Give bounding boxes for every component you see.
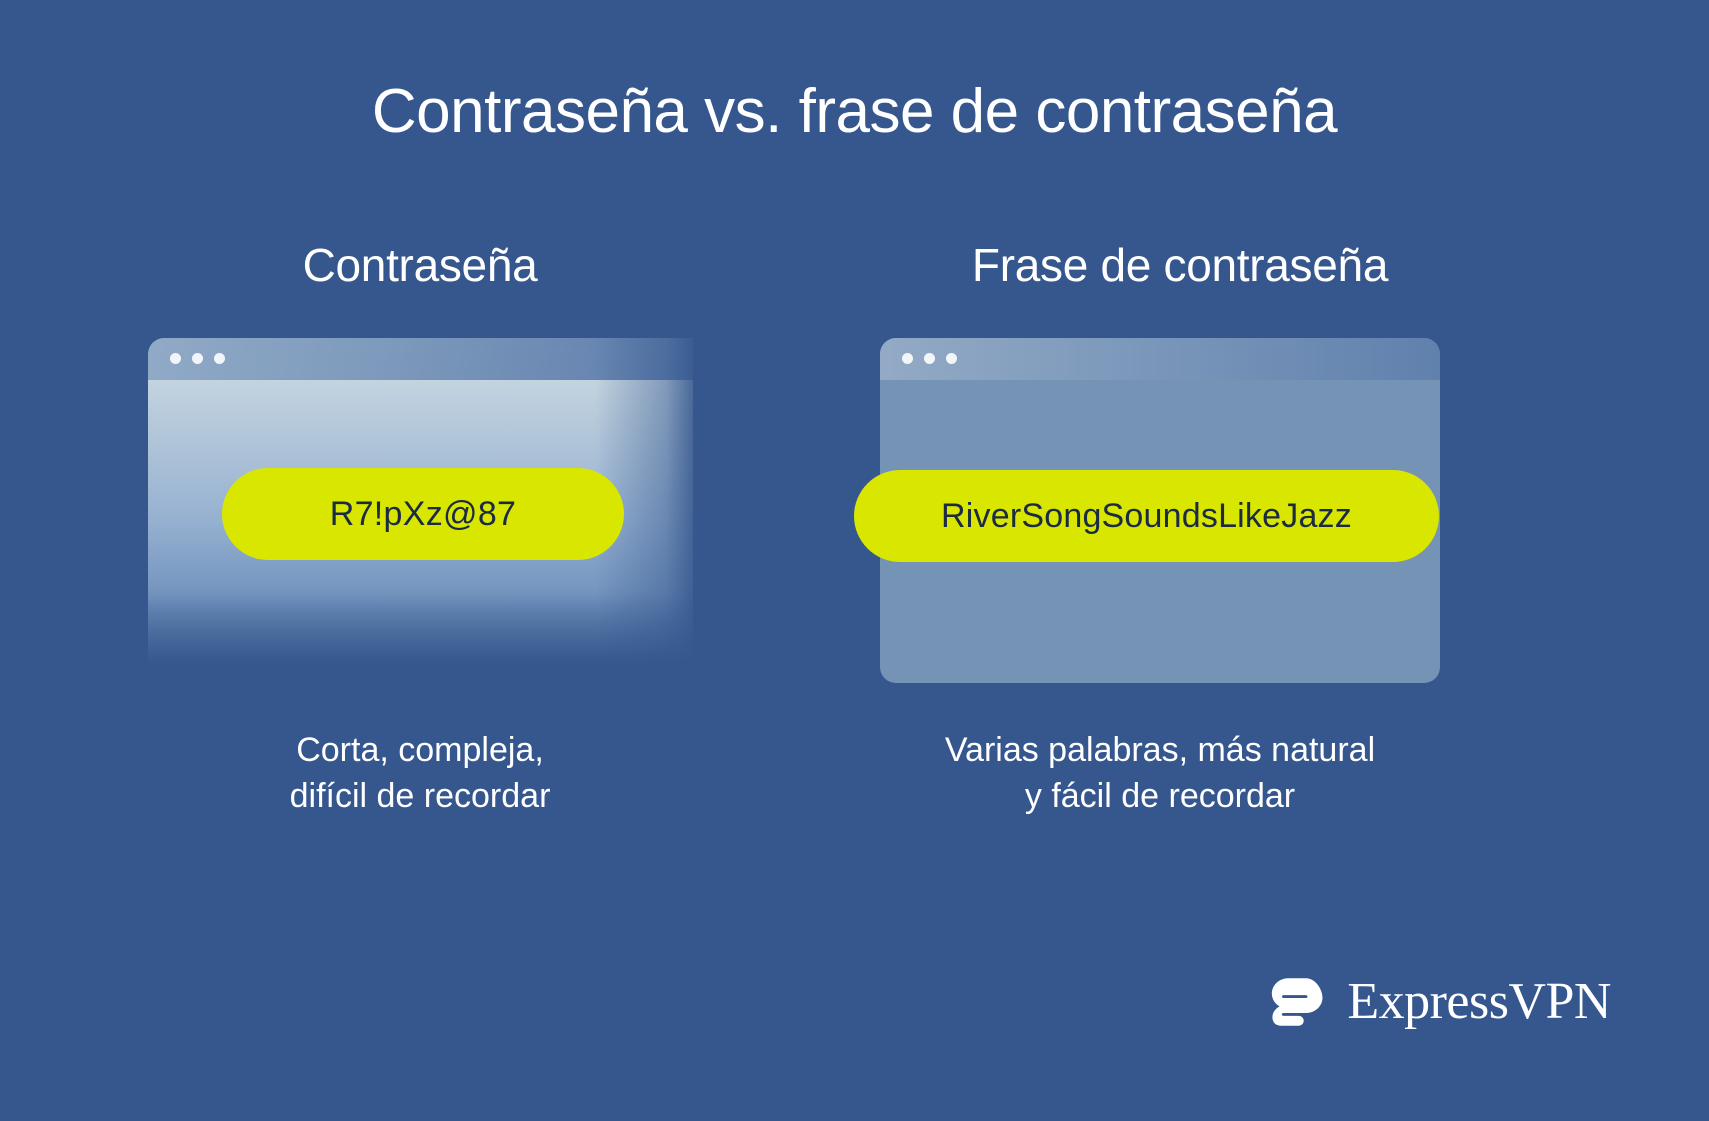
password-value-pill: R7!pXz@87: [222, 468, 624, 560]
page-title: Contraseña vs. frase de contraseña: [0, 78, 1709, 146]
expressvpn-e-logo-icon: [1267, 971, 1329, 1033]
caption-passphrase-line2: y fácil de recordar: [860, 774, 1460, 820]
window-dot-close-icon: [902, 353, 913, 364]
window-dot-close-icon: [170, 353, 181, 364]
window-dots-passphrase: [902, 353, 957, 364]
infographic-canvas: Contraseña vs. frase de contraseña Contr…: [0, 0, 1709, 1121]
expressvpn-logo: ExpressVPN: [1267, 971, 1611, 1033]
column-heading-password: Contraseña: [120, 238, 720, 292]
expressvpn-wordmark: ExpressVPN: [1347, 976, 1611, 1028]
window-dot-minimize-icon: [192, 353, 203, 364]
caption-passphrase-line1: Varias palabras, más natural: [860, 728, 1460, 774]
caption-password-line2: difícil de recordar: [120, 774, 720, 820]
window-titlebar-password: [148, 338, 693, 380]
caption-passphrase: Varias palabras, más natural y fácil de …: [860, 728, 1460, 820]
caption-password-line1: Corta, compleja,: [120, 728, 720, 774]
window-dots-password: [170, 353, 225, 364]
caption-password: Corta, compleja, difícil de recordar: [120, 728, 720, 820]
window-titlebar-passphrase: [880, 338, 1440, 380]
window-dot-maximize-icon: [214, 353, 225, 364]
column-heading-passphrase: Frase de contraseña: [880, 238, 1480, 292]
window-dot-minimize-icon: [924, 353, 935, 364]
passphrase-value-pill: RiverSongSoundsLikeJazz: [854, 470, 1439, 562]
window-dot-maximize-icon: [946, 353, 957, 364]
